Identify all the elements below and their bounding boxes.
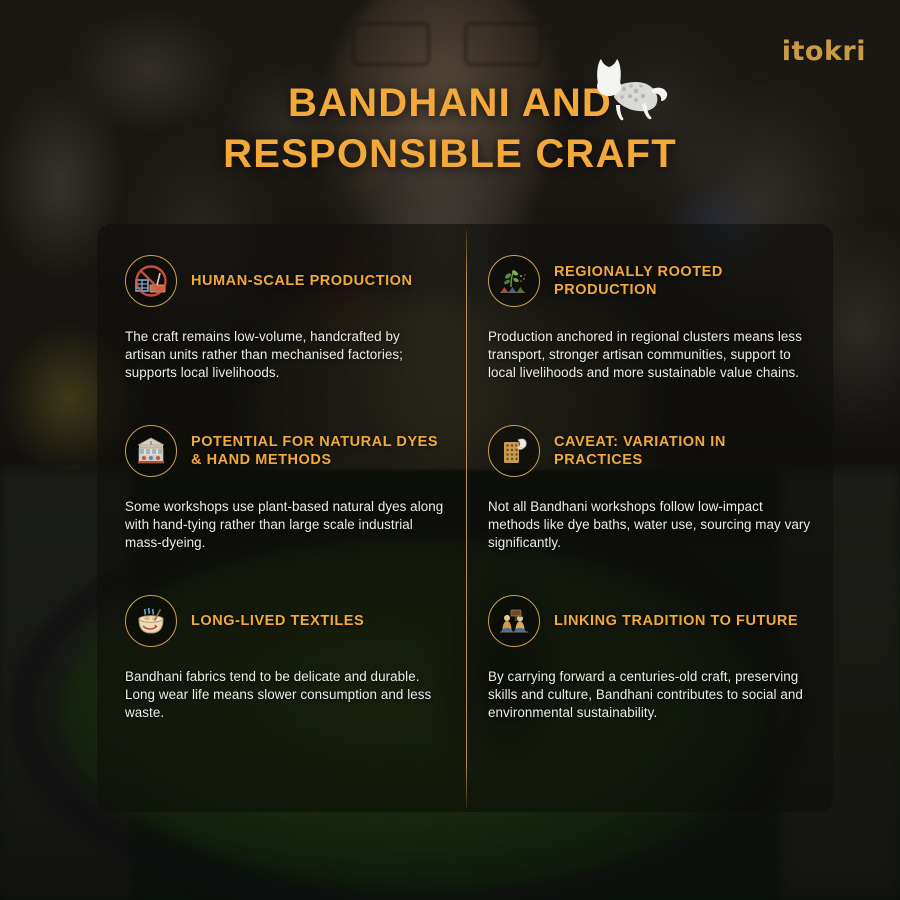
page-title-line-1: BANDHANI AND	[0, 78, 900, 129]
card-header: CAVEAT: VARIATION IN PRACTICES	[488, 422, 811, 480]
plant-and-dye-powder-icon	[488, 255, 540, 307]
page-title-line-2: RESPONSIBLE CRAFT	[0, 129, 900, 180]
card-title: LONG-LIVED TEXTILES	[191, 612, 364, 630]
benefit-card-regionally-rooted-production: REGIONALLY ROOTED PRODUCTION Production …	[466, 224, 833, 394]
card-header: LONG-LIVED TEXTILES	[125, 592, 444, 650]
workshop-building-icon	[125, 425, 177, 477]
card-title: HUMAN-SCALE PRODUCTION	[191, 272, 413, 290]
benefit-card-long-lived-textiles: LONG-LIVED TEXTILES Bandhani fabrics ten…	[97, 564, 466, 812]
card-body: Bandhani fabrics tend to be delicate and…	[125, 668, 444, 723]
hand-holding-fabric-icon	[488, 425, 540, 477]
benefit-card-human-scale-production: HUMAN-SCALE PRODUCTION The craft remains…	[97, 224, 466, 394]
card-title: POTENTIAL FOR NATURAL DYES & HAND METHOD…	[191, 433, 444, 470]
card-title: REGIONALLY ROOTED PRODUCTION	[554, 263, 809, 300]
card-body: Some workshops use plant-based natural d…	[125, 498, 444, 553]
card-body: Not all Bandhani workshops follow low-im…	[488, 498, 811, 553]
two-artisans-icon	[488, 595, 540, 647]
benefit-card-natural-dyes-hand-methods: POTENTIAL FOR NATURAL DYES & HAND METHOD…	[97, 394, 466, 564]
benefit-card-caveat-variation-in-practices: CAVEAT: VARIATION IN PRACTICES Not all B…	[466, 394, 833, 564]
card-body: By carrying forward a centuries-old craf…	[488, 668, 811, 723]
infographic-poster: itokri BANDHANI AND RESPONSIBLE CRAFT	[0, 0, 900, 900]
steaming-dye-pot-icon	[125, 595, 177, 647]
card-header: HUMAN-SCALE PRODUCTION	[125, 252, 444, 310]
page-title: BANDHANI AND RESPONSIBLE CRAFT	[0, 78, 900, 180]
no-factory-icon	[125, 255, 177, 307]
card-title: CAVEAT: VARIATION IN PRACTICES	[554, 433, 809, 470]
benefits-grid: HUMAN-SCALE PRODUCTION The craft remains…	[97, 224, 833, 812]
card-body: Production anchored in regional clusters…	[488, 328, 811, 383]
card-header: LINKING TRADITION TO FUTURE	[488, 592, 811, 650]
card-header: REGIONALLY ROOTED PRODUCTION	[488, 252, 811, 310]
card-body: The craft remains low-volume, handcrafte…	[125, 328, 444, 383]
card-title: LINKING TRADITION TO FUTURE	[554, 612, 798, 630]
itokri-logo: itokri	[782, 36, 866, 67]
card-header: POTENTIAL FOR NATURAL DYES & HAND METHOD…	[125, 422, 444, 480]
benefit-card-linking-tradition-to-future: LINKING TRADITION TO FUTURE By carrying …	[466, 564, 833, 812]
